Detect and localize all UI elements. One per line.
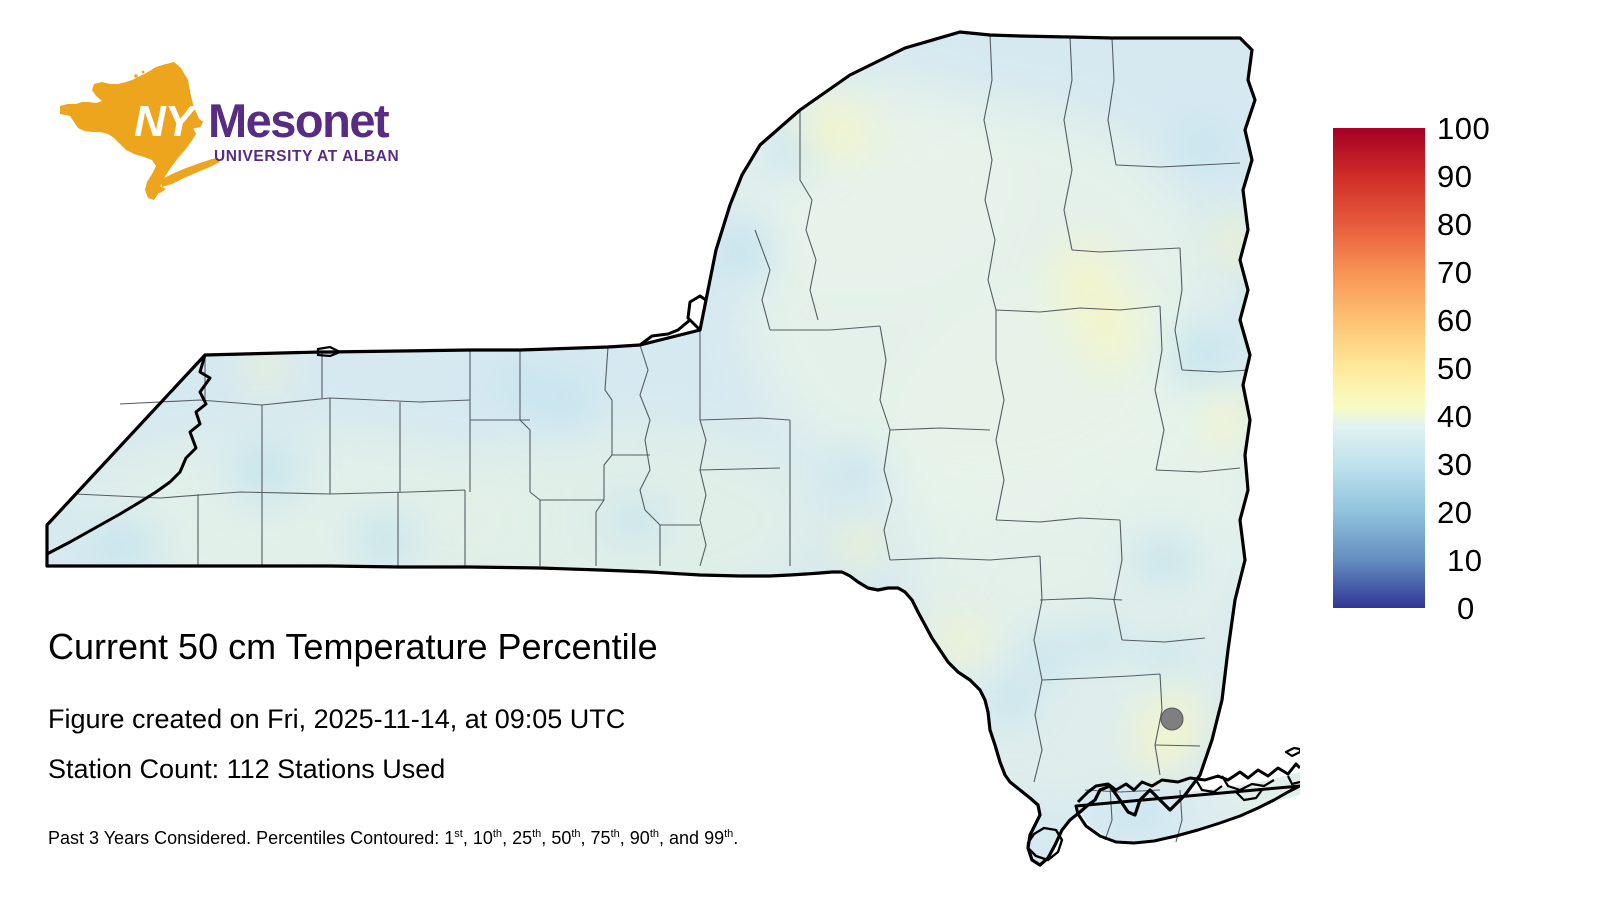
logo-shore-dot bbox=[134, 74, 138, 78]
footnote-percentile: 50th, bbox=[551, 828, 590, 848]
figure-root: NYS Mesonet UNIVERSITY AT ALBANY 100 90 … bbox=[0, 0, 1600, 900]
footnote-percentile: 25th, bbox=[512, 828, 551, 848]
logo-mesonet-text: Mesonet bbox=[208, 94, 390, 147]
figure-created-timestamp: Figure created on Fri, 2025-11-14, at 09… bbox=[48, 703, 625, 735]
colorbar-gradient bbox=[1333, 128, 1425, 608]
station-count-text: Station Count: 112 Stations Used bbox=[48, 753, 445, 785]
colorbar-tick: 100 bbox=[1437, 113, 1490, 144]
footnote-percentile: 90th, bbox=[630, 828, 669, 848]
footnote-percentile: 10th, bbox=[473, 828, 512, 848]
logo-tagline-text: UNIVERSITY AT ALBANY bbox=[214, 148, 398, 165]
colorbar-tick: 40 bbox=[1437, 401, 1472, 432]
footnote-terminator: . bbox=[733, 828, 738, 848]
figure-title: Current 50 cm Temperature Percentile bbox=[48, 625, 658, 669]
logo-shore-dot bbox=[142, 71, 145, 74]
nys-mesonet-logo: NYS Mesonet UNIVERSITY AT ALBANY bbox=[48, 58, 398, 208]
figure-footnote: Past 3 Years Considered. Percentiles Con… bbox=[48, 827, 738, 849]
footnote-lead: Past 3 Years Considered. Percentiles Con… bbox=[48, 828, 444, 848]
station-marker[interactable] bbox=[1161, 708, 1183, 730]
colorbar-tick: 90 bbox=[1437, 161, 1472, 192]
colorbar-tick: 10 bbox=[1447, 545, 1482, 576]
colorbar-tick-labels: 100 90 80 70 60 50 40 30 20 10 0 bbox=[1437, 128, 1567, 608]
footnote-percentile: 1st, bbox=[444, 828, 473, 848]
colorbar-tick: 70 bbox=[1437, 257, 1472, 288]
colorbar-tick: 80 bbox=[1437, 209, 1472, 240]
footnote-percentile: 75th, bbox=[591, 828, 630, 848]
footnote-conjunction: and bbox=[669, 828, 699, 848]
colorbar-tick: 20 bbox=[1437, 497, 1472, 528]
colorbar-tick: 0 bbox=[1457, 593, 1475, 624]
colorbar-tick: 30 bbox=[1437, 449, 1472, 480]
colorbar-tick: 60 bbox=[1437, 305, 1472, 336]
colorbar-tick: 50 bbox=[1437, 353, 1472, 384]
footnote-percentile: 99th bbox=[699, 828, 733, 848]
colorbar: 100 90 80 70 60 50 40 30 20 10 0 bbox=[1333, 128, 1573, 608]
